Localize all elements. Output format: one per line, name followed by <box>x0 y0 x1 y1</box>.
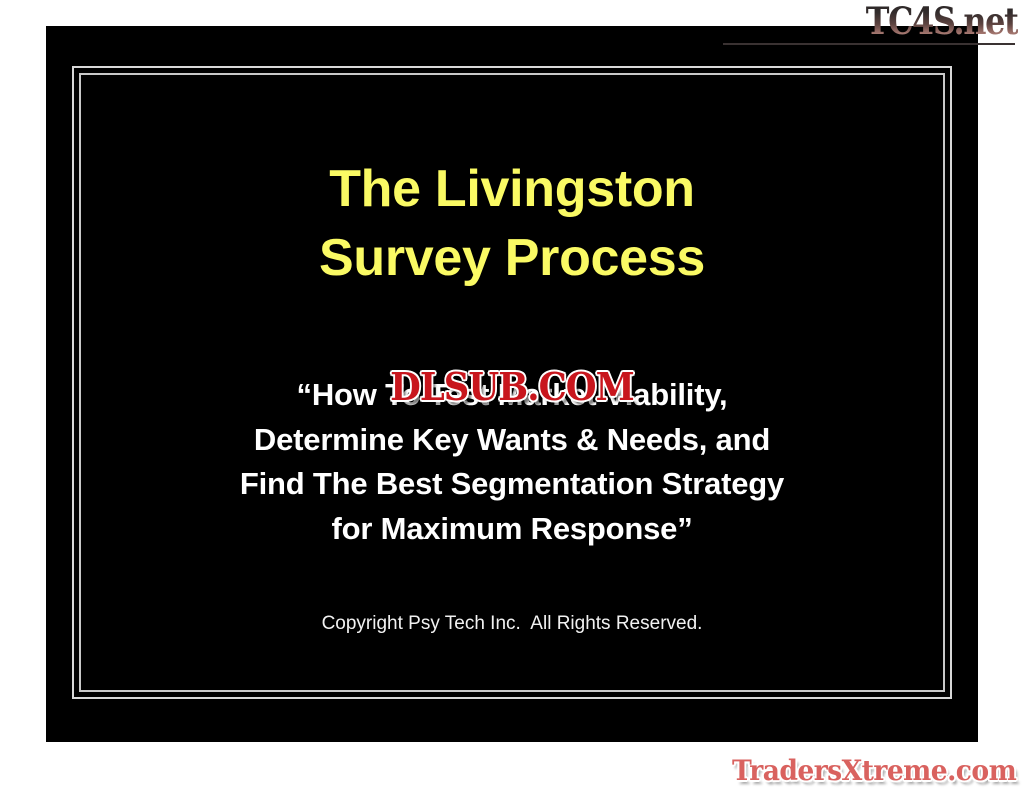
watermark-tradersxtreme-com: TradersXtreme.com <box>717 755 1016 787</box>
page-subtitle-line-1: “How To Test Market Viability, <box>79 373 945 418</box>
page-subtitle-line-3: Find The Best Segmentation Strategy <box>79 462 945 507</box>
slide-black-panel: The Livingston Survey Process “How To Te… <box>46 26 978 742</box>
page-subtitle: “How To Test Market Viability, Determine… <box>79 373 945 552</box>
page-subtitle-line-4: for Maximum Response” <box>79 507 945 552</box>
slide-page: The Livingston Survey Process “How To Te… <box>0 0 1024 791</box>
page-subtitle-line-2: Determine Key Wants & Needs, and <box>79 418 945 463</box>
copyright-notice: Copyright Psy Tech Inc. All Rights Reser… <box>79 613 945 635</box>
slide-content-area: The Livingston Survey Process “How To Te… <box>79 73 945 692</box>
page-title: The Livingston Survey Process <box>79 155 945 293</box>
page-title-line-2: Survey Process <box>79 224 945 293</box>
watermark-tradersxtreme-com-text: TradersXtreme.com <box>732 755 1016 787</box>
page-title-line-1: The Livingston <box>79 155 945 224</box>
